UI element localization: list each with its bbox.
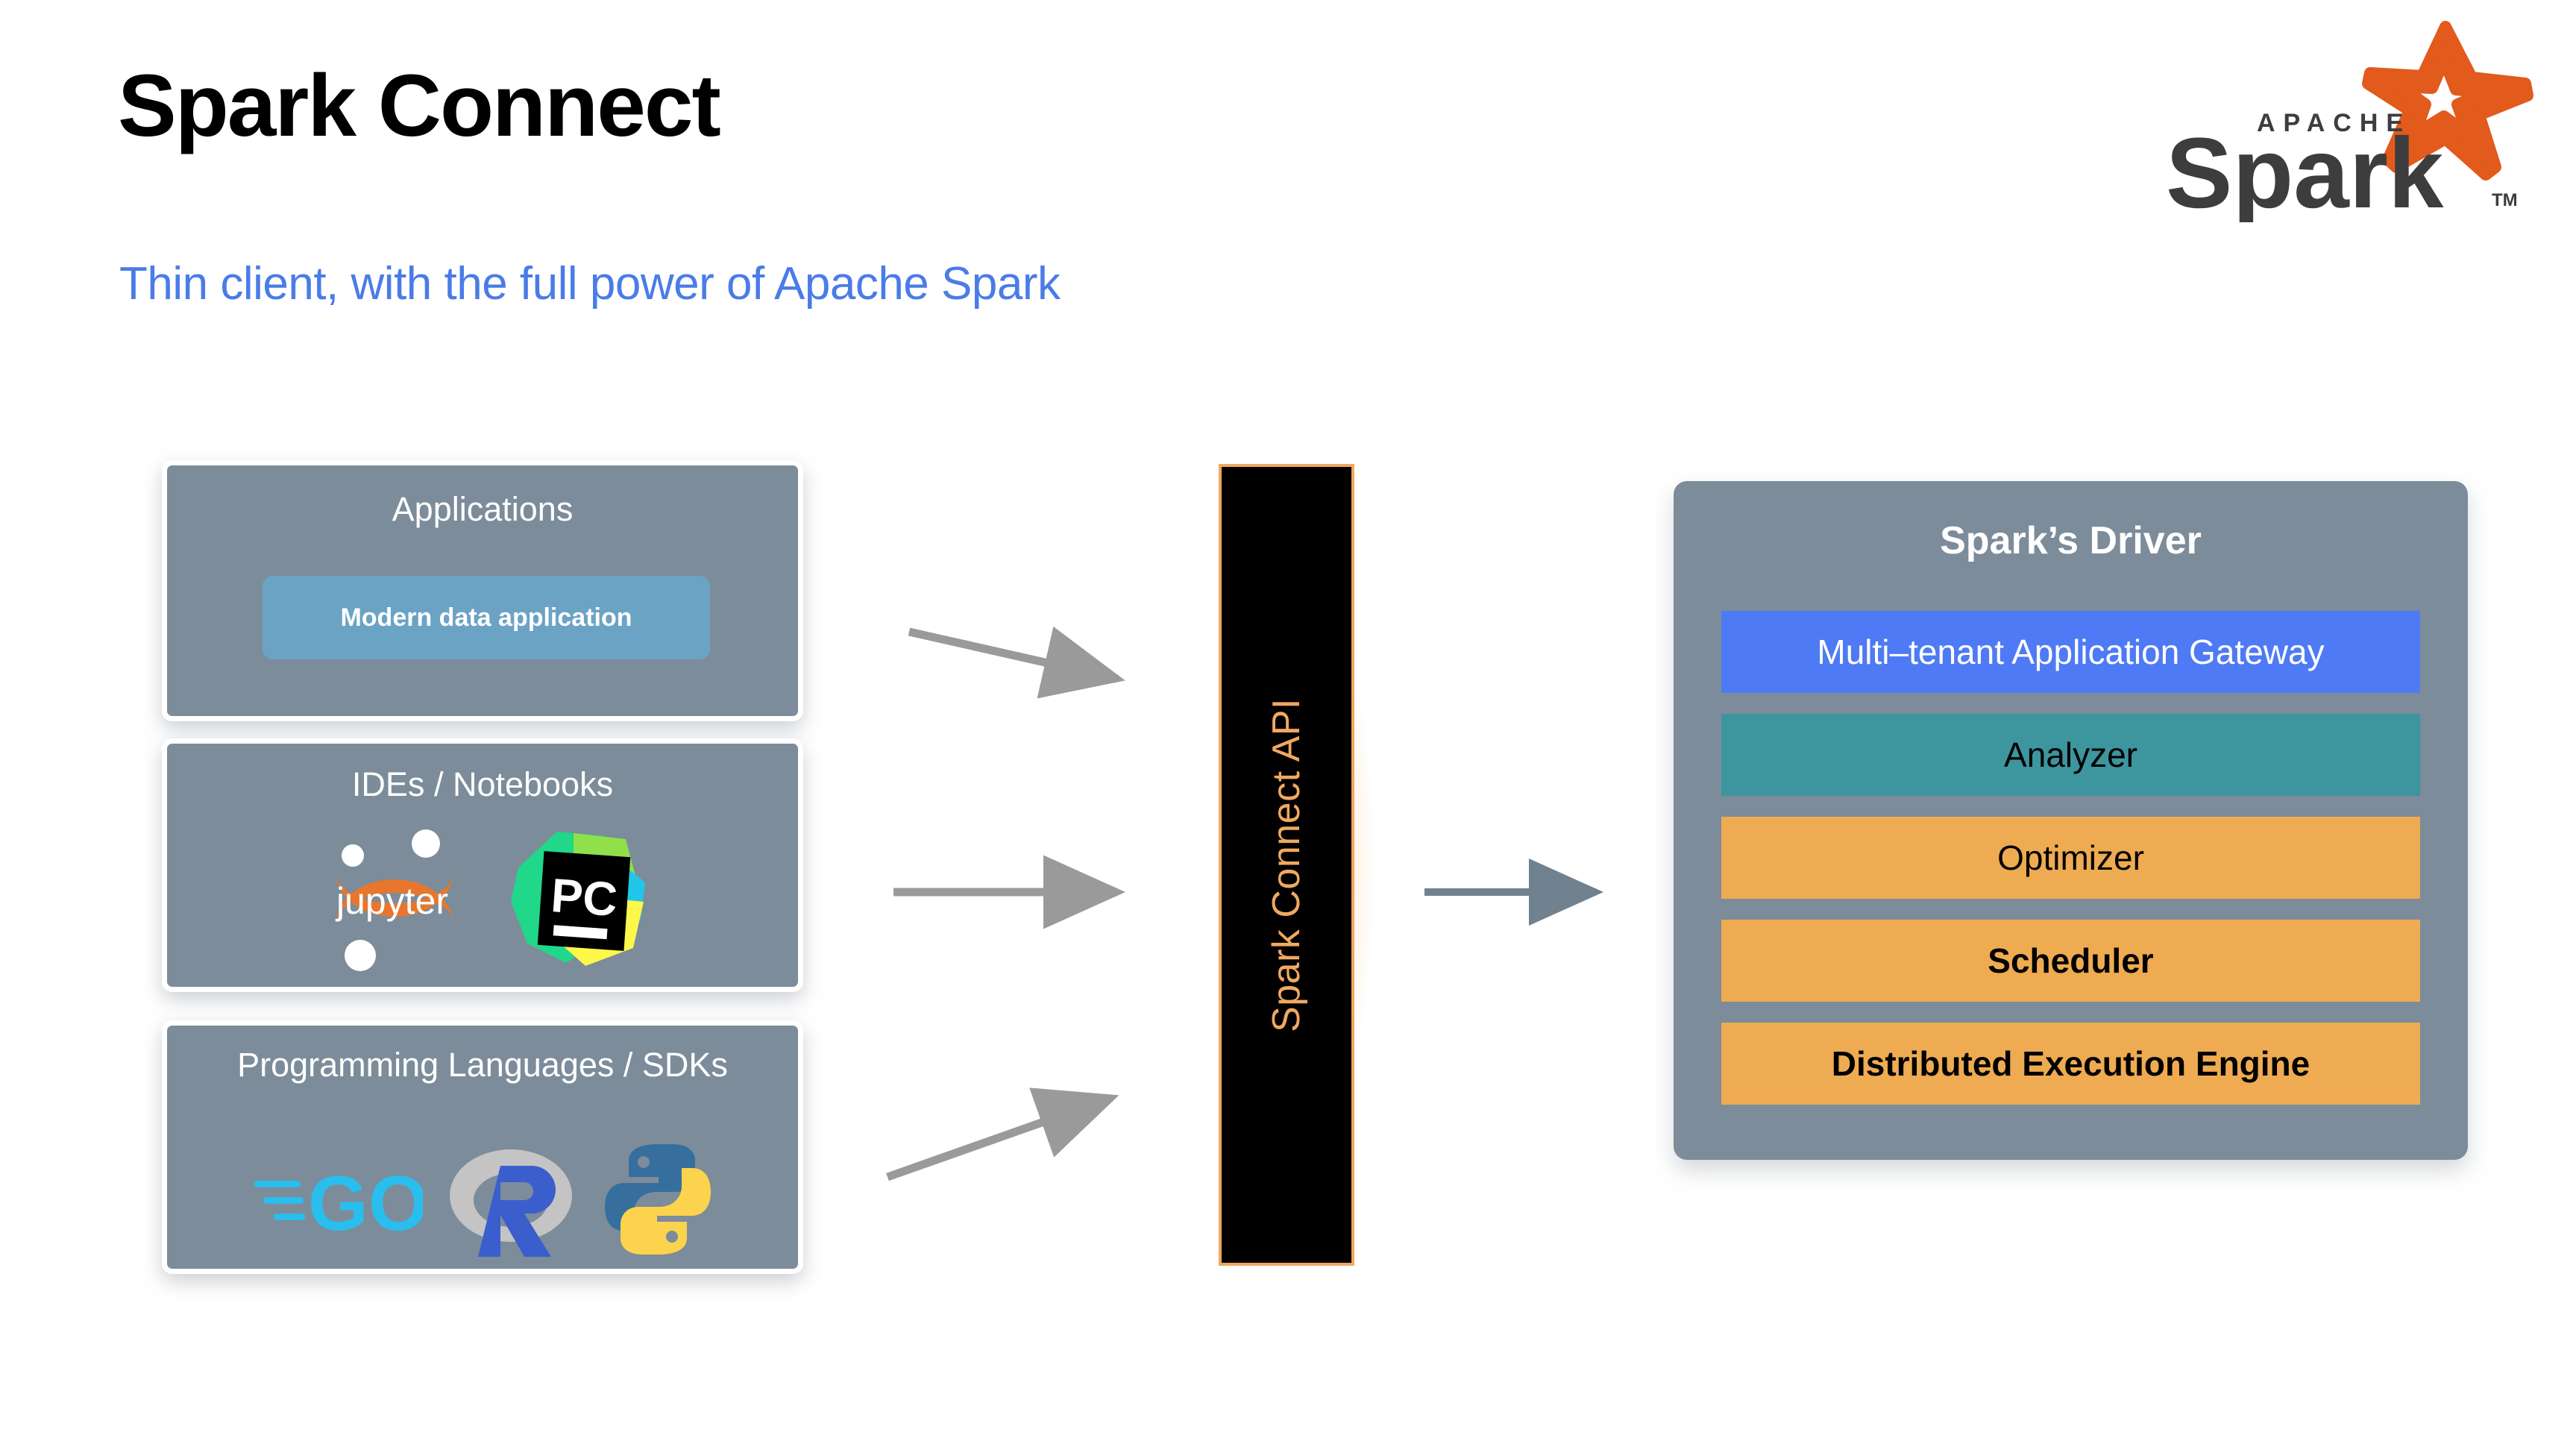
driver-rows-container: Multi–tenant Application Gateway Analyze… bbox=[1721, 611, 2420, 1126]
driver-row-scheduler[interactable]: Scheduler bbox=[1721, 920, 2420, 1002]
spark-connect-api-bar[interactable]: Spark Connect API bbox=[1219, 464, 1354, 1266]
pycharm-wordmark: PC bbox=[549, 868, 619, 926]
card-title-applications: Applications bbox=[167, 489, 798, 529]
page-subtitle: Thin client, with the full power of Apac… bbox=[119, 257, 1060, 310]
driver-row-label: Distributed Execution Engine bbox=[1832, 1043, 2310, 1084]
card-title-ides-notebooks: IDEs / Notebooks bbox=[167, 765, 798, 804]
r-icon bbox=[445, 1137, 579, 1261]
arrow-applications-to-api bbox=[909, 632, 1117, 679]
page-title: Spark Connect bbox=[118, 58, 720, 155]
jupyter-wordmark: jupyter bbox=[335, 880, 448, 922]
driver-panel-title: Spark’s Driver bbox=[1674, 518, 2468, 563]
driver-row-analyzer[interactable]: Analyzer bbox=[1721, 714, 2420, 796]
go-wordmark: GO bbox=[308, 1161, 423, 1247]
driver-row-label: Scheduler bbox=[1988, 941, 2153, 981]
python-icon bbox=[602, 1140, 714, 1259]
client-card-programming-languages-sdks[interactable]: Programming Languages / SDKs GO bbox=[162, 1020, 803, 1274]
slide-canvas: Spark Connect Thin client, with the full… bbox=[0, 0, 2576, 1447]
arrow-sdks-to-api bbox=[888, 1098, 1111, 1177]
go-icon: GO bbox=[251, 1143, 423, 1255]
driver-row-distributed-execution-engine[interactable]: Distributed Execution Engine bbox=[1721, 1023, 2420, 1105]
modern-data-application-pill[interactable]: Modern data application bbox=[263, 576, 710, 659]
driver-row-label: Analyzer bbox=[2004, 735, 2137, 775]
driver-row-gateway[interactable]: Multi–tenant Application Gateway bbox=[1721, 611, 2420, 693]
logo-trademark: TM bbox=[2492, 190, 2518, 210]
client-card-applications[interactable]: Applications Modern data application bbox=[162, 460, 803, 721]
pycharm-icon: PC bbox=[502, 824, 651, 973]
apache-spark-logo: APACHE Spark TM bbox=[2152, 21, 2540, 222]
driver-row-label: Multi–tenant Application Gateway bbox=[1817, 632, 2324, 672]
driver-row-label: Optimizer bbox=[1997, 838, 2144, 878]
pill-label: Modern data application bbox=[340, 603, 632, 633]
client-card-ides-notebooks[interactable]: IDEs / Notebooks jupyter PC bbox=[162, 738, 803, 992]
api-bar-label: Spark Connect API bbox=[1264, 698, 1309, 1032]
card-title-programming-languages-sdks: Programming Languages / SDKs bbox=[167, 1045, 798, 1085]
logo-wordmark: Spark bbox=[2166, 118, 2444, 222]
spark-driver-panel: Spark’s Driver Multi–tenant Application … bbox=[1674, 481, 2468, 1160]
driver-row-optimizer[interactable]: Optimizer bbox=[1721, 817, 2420, 899]
jupyter-icon: jupyter bbox=[314, 824, 471, 973]
